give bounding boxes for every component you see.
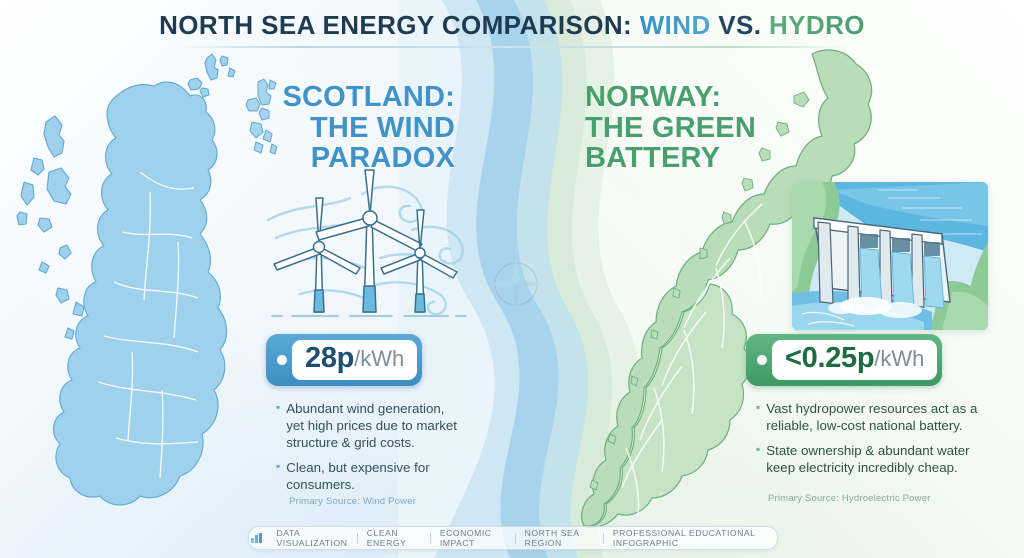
norway-source-note: Primary Source: Hydroelectric Power bbox=[768, 493, 931, 504]
norway-bullet-2: State ownership & abundant water keep el… bbox=[766, 442, 981, 476]
footer-tag-5: PROFESSIONAL EDUCATIONAL INFOGRAPHIC bbox=[604, 528, 777, 548]
title-vs: VS. bbox=[718, 10, 761, 40]
title-wind: WIND bbox=[640, 10, 711, 40]
page-title: NORTH SEA ENERGY COMPARISON: WIND VS. HY… bbox=[0, 10, 1024, 41]
bullet-dot-icon: ▪ bbox=[756, 442, 760, 476]
bullet-dot-icon: ▪ bbox=[756, 400, 760, 434]
scotland-heading: SCOTLAND: THE WIND PARADOX bbox=[255, 82, 455, 174]
scotland-source-note: Primary Source: Wind Power bbox=[289, 496, 416, 507]
wind-turbines-illustration bbox=[262, 168, 477, 333]
list-item: ▪ Abundant wind generation, yet high pri… bbox=[276, 400, 461, 451]
tag-hole-icon bbox=[757, 355, 767, 365]
footer-tag-bar: DATA VISUALIZATION CLEAN ENERGY ECONOMIC… bbox=[248, 526, 778, 550]
footer-tag-1: DATA VISUALIZATION bbox=[268, 528, 358, 548]
list-item: ▪ Vast hydropower resources act as a rel… bbox=[756, 400, 981, 434]
tag-hole-icon bbox=[277, 355, 287, 365]
bullet-dot-icon: ▪ bbox=[276, 400, 280, 451]
scotland-bullet-2: Clean, but expensive for consumers. bbox=[286, 459, 461, 493]
infographic-canvas: NORTH SEA ENERGY COMPARISON: WIND VS. HY… bbox=[0, 0, 1024, 558]
bar-chart-icon bbox=[251, 533, 262, 543]
norway-heading: NORWAY: THE GREEN BATTERY bbox=[585, 82, 815, 174]
title-underline-rule bbox=[175, 46, 851, 48]
footer-tag-3: ECONOMIC IMPACT bbox=[431, 528, 515, 548]
footer-tag-2: CLEAN ENERGY bbox=[358, 528, 430, 548]
hydroelectric-dam-illustration bbox=[792, 182, 988, 330]
norway-price-unit: /kWh bbox=[874, 346, 924, 372]
norway-bullet-list: ▪ Vast hydropower resources act as a rel… bbox=[756, 400, 981, 484]
scotland-price-unit: /kWh bbox=[354, 346, 404, 372]
compass-rose-icon bbox=[488, 256, 544, 312]
bullet-dot-icon: ▪ bbox=[276, 459, 280, 493]
footer-tag-4: NORTH SEA REGION bbox=[516, 528, 604, 548]
norway-heading-line3: BATTERY bbox=[585, 143, 815, 174]
scotland-price-tag: 28p /kWh bbox=[266, 334, 422, 386]
scotland-bullet-list: ▪ Abundant wind generation, yet high pri… bbox=[276, 400, 461, 501]
norway-bullet-1: Vast hydropower resources act as a relia… bbox=[766, 400, 981, 434]
norway-price-tag: <0.25p /kWh bbox=[746, 334, 942, 386]
scotland-heading-line1: SCOTLAND: bbox=[255, 82, 455, 113]
norway-price-value: <0.25p bbox=[785, 342, 874, 375]
list-item: ▪ Clean, but expensive for consumers. bbox=[276, 459, 461, 493]
norway-heading-line1: NORWAY: bbox=[585, 82, 815, 113]
norway-heading-line2: THE GREEN bbox=[585, 113, 815, 144]
scotland-price-value: 28p bbox=[305, 342, 354, 375]
title-hydro: HYDRO bbox=[769, 10, 865, 40]
title-main: NORTH SEA ENERGY COMPARISON: bbox=[159, 10, 632, 40]
scotland-bullet-1: Abundant wind generation, yet high price… bbox=[286, 400, 461, 451]
footer-tags: DATA VISUALIZATION CLEAN ENERGY ECONOMIC… bbox=[249, 528, 777, 548]
scotland-heading-line2: THE WIND bbox=[255, 113, 455, 144]
list-item: ▪ State ownership & abundant water keep … bbox=[756, 442, 981, 476]
